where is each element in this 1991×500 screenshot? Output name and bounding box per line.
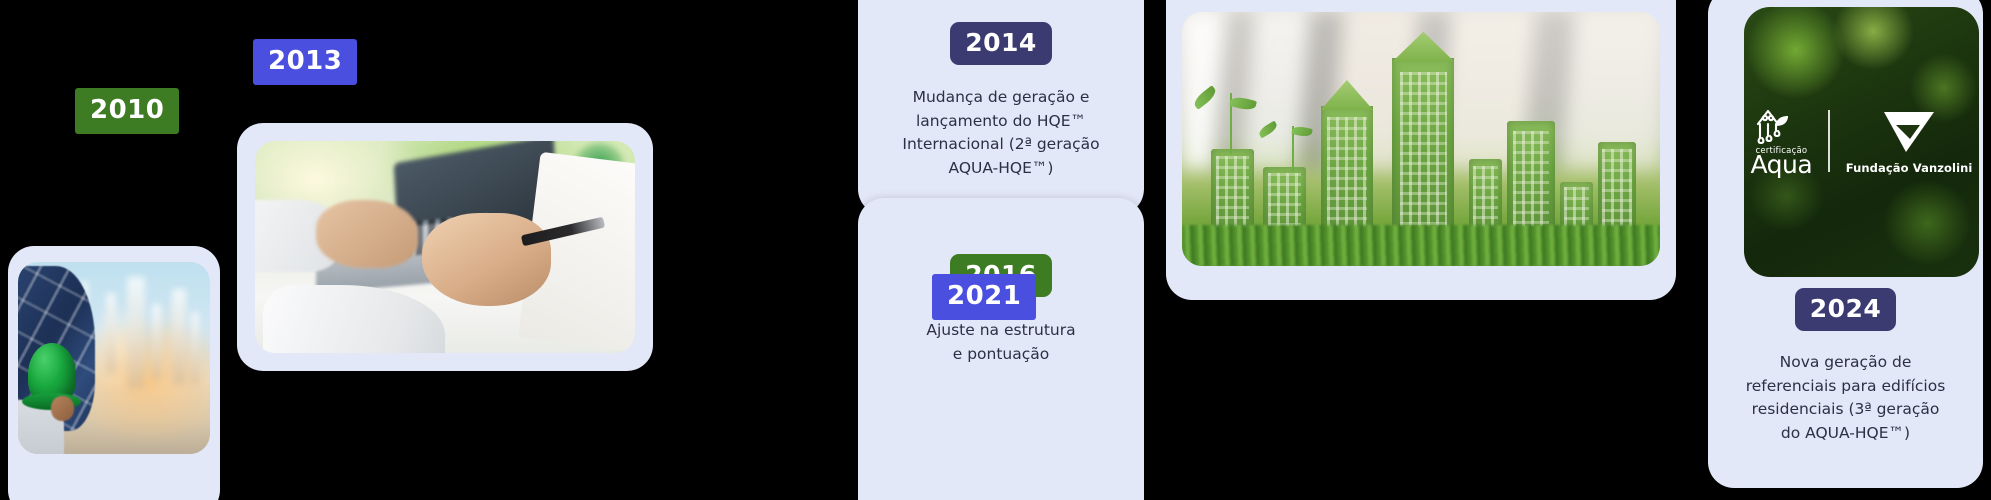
milestone-card-2013[interactable] [237, 123, 653, 371]
vanzolini-wordmark: Fundação Vanzolini [1846, 161, 1973, 175]
right-sleeve [263, 285, 445, 353]
milestone-card-2016[interactable]: 2016 Ajuste na estrutura e pontuação [858, 198, 1144, 500]
vanzolini-arrow-icon [1880, 106, 1938, 156]
desc-line: do AQUA-HQE™) [1746, 422, 1946, 446]
aqua-vanzolini-logo-photo: certificação Aqua Fundação Vanzolini [1744, 7, 1979, 277]
desc-line: AQUA-HQE™) [902, 157, 1099, 181]
moss-tower-peak [1392, 58, 1454, 241]
year-badge-2013[interactable]: 2013 [253, 39, 357, 85]
desc-line: Nova geração de [1746, 351, 1946, 375]
milestone-description-2016: Ajuste na estrutura e pontuação [910, 319, 1091, 366]
milestone-description-2014: Mudança de geração e lançamento do HQE™ … [886, 86, 1115, 180]
year-badge-2021[interactable]: 2021 [932, 274, 1036, 320]
green-moss-city-skyline-photo [1182, 12, 1660, 266]
milestone-description-2024: Nova geração de referenciais para edifíc… [1736, 351, 1956, 445]
moss-tower-peak [1321, 106, 1374, 241]
desc-line: Mudança de geração e [902, 86, 1099, 110]
year-badge-2024[interactable]: 2024 [1795, 288, 1897, 331]
grass-foreground [1182, 225, 1660, 266]
milestone-card-2010[interactable] [8, 246, 220, 500]
typing-hand [316, 200, 419, 268]
milestone-card-2024[interactable]: certificação Aqua Fundação Vanzolini 202… [1708, 0, 1983, 488]
logo-lockup: certificação Aqua Fundação Vanzolini [1744, 104, 1979, 177]
hands-laptop-pen-photo [255, 141, 635, 353]
vanzolini-logo: Fundação Vanzolini [1846, 106, 1973, 175]
desc-line: Internacional (2ª geração [902, 133, 1099, 157]
aqua-house-leaf-icon [1754, 104, 1808, 146]
desc-line: Ajuste na estrutura [926, 319, 1075, 343]
hand [51, 396, 74, 421]
milestone-card-2014[interactable]: 2014 Mudança de geração e lançamento do … [858, 0, 1144, 215]
year-badge-2014[interactable]: 2014 [950, 22, 1052, 65]
desc-line: referenciais para edifícios [1746, 375, 1946, 399]
milestone-card-2021[interactable] [1166, 0, 1676, 300]
aqua-logo: certificação Aqua [1751, 104, 1813, 177]
desc-line: e pontuação [926, 343, 1075, 367]
worker-green-helmet-refinery-photo [18, 262, 210, 454]
timeline-infographic: 2010 2013 2014 Mudança de geração e lanç… [0, 0, 1991, 500]
pen-hand [422, 213, 551, 306]
desc-line: lançamento do HQE™ [902, 110, 1099, 134]
aqua-wordmark: Aqua [1751, 153, 1813, 177]
year-badge-2010[interactable]: 2010 [75, 88, 179, 134]
desc-line: residenciais (3ª geração [1746, 398, 1946, 422]
moss-tower [1507, 121, 1555, 240]
logo-divider [1828, 110, 1830, 172]
